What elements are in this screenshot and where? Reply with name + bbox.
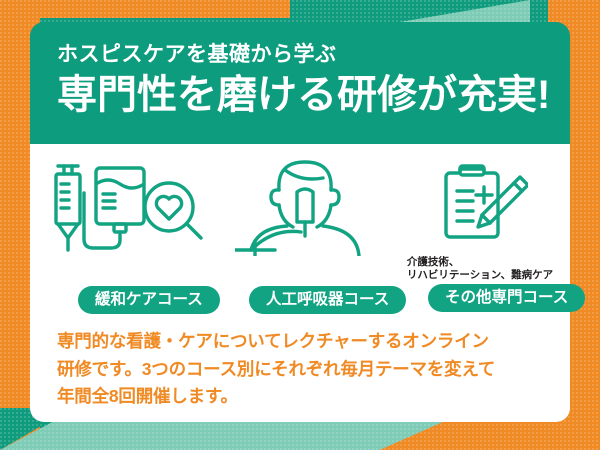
clipboard-pencil-icon [432, 158, 528, 254]
header-card: ホスピスケアを基礎から学ぶ 専門性を磨ける研修が充実! [30, 22, 570, 144]
content-card: 介護技術、 リハビリテーション、難病ケア 緩和ケアコース 人工呼吸器コース その… [30, 144, 570, 422]
breathing-tube-icon [297, 189, 313, 236]
ventilator-patient-icon [235, 158, 375, 254]
course-caption-other-line2: リハビリテーション、難病ケア [407, 269, 553, 281]
light-teal-triangle-top [400, 0, 530, 22]
palliative-care-icon [45, 158, 205, 254]
patient-shoulders-icon [235, 226, 359, 256]
course-pill-other[interactable]: その他専門コース [428, 284, 585, 312]
infographic-banner: ホスピスケアを基礎から学ぶ 専門性を磨ける研修が充実! [0, 0, 600, 450]
orange-top-band [0, 0, 290, 18]
banner-headline: 専門性を磨ける研修が充実! [57, 74, 570, 116]
plus-icon [476, 187, 492, 203]
description-line-3: 年間全8回開催します。 [57, 383, 557, 411]
course-caption-other: 介護技術、 リハビリテーション、難病ケア [407, 256, 553, 283]
clipboard-icon [446, 166, 498, 237]
patient-head-with-mask-icon [271, 162, 339, 227]
heart-magnifier-icon [145, 183, 201, 238]
iv-drip-bag-icon [84, 168, 144, 248]
description-line-1: 専門的な看護・ケアについてレクチャーするオンライン [57, 328, 557, 356]
course-pill-other-wrap[interactable]: その他専門コース [428, 284, 585, 312]
course-pill-ventilator-wrap[interactable]: 人工呼吸器コース [249, 286, 406, 314]
syringe-icon [56, 166, 80, 250]
course-pill-palliative-wrap[interactable]: 緩和ケアコース [78, 286, 220, 314]
description-text: 専門的な看護・ケアについてレクチャーするオンライン 研修です。3つのコース別にそ… [57, 328, 557, 411]
course-pill-ventilator[interactable]: 人工呼吸器コース [249, 286, 406, 314]
course-caption-other-line1: 介護技術、 [407, 256, 460, 268]
description-line-2: 研修です。3つのコース別にそれぞれ毎月テーマを変えて [57, 356, 557, 384]
course-pill-palliative[interactable]: 緩和ケアコース [78, 286, 220, 314]
banner-kicker: ホスピスケアを基礎から学ぶ [57, 44, 570, 65]
